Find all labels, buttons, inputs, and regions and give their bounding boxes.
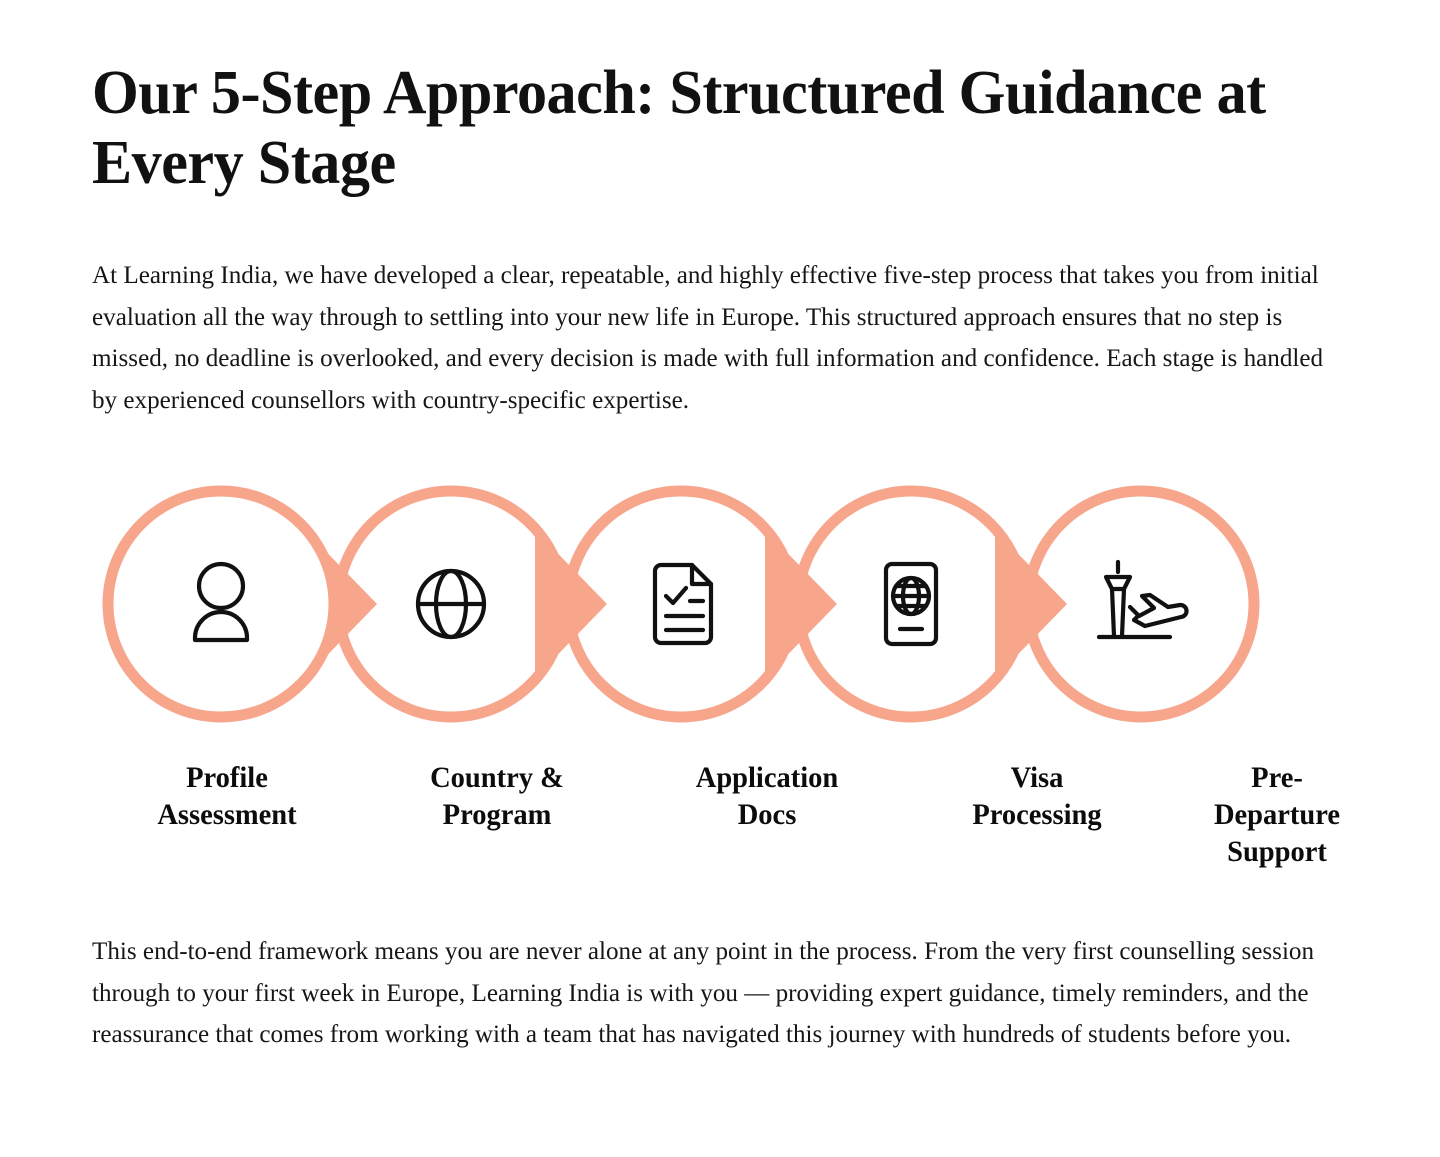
step-label-3-line-1: Application xyxy=(639,760,896,797)
step-label-4-line-1: Visa xyxy=(909,760,1166,797)
step-label-5-line-1: Pre- xyxy=(1177,760,1377,797)
step-label-5: Pre- Departure Support xyxy=(1177,760,1377,870)
intro-paragraph: At Learning India, we have developed a c… xyxy=(92,198,1329,420)
step-label-3-line-2: Docs xyxy=(639,797,896,834)
step-label-5-line-3: Support xyxy=(1177,834,1377,871)
step-label-4-line-2: Processing xyxy=(909,797,1166,834)
step-label-2-line-2: Program xyxy=(369,797,626,834)
passport-icon xyxy=(886,564,936,644)
step-label-2: Country & Program xyxy=(369,760,626,870)
step-label-2-line-1: Country & xyxy=(369,760,626,797)
page-title: Our 5-Step Approach: Structured Guidance… xyxy=(92,0,1310,198)
outro-paragraph: This end-to-end framework means you are … xyxy=(92,930,1331,1055)
step-label-3: Application Docs xyxy=(639,760,896,870)
step-label-1-line-1: Profile xyxy=(99,760,356,797)
step-label-1-line-2: Assessment xyxy=(99,797,356,834)
step-labels-row: Profile Assessment Country & Program App… xyxy=(92,760,1382,870)
process-circles-svg xyxy=(92,474,1382,734)
step-label-1: Profile Assessment xyxy=(99,760,356,870)
step-circle-1[interactable] xyxy=(108,491,334,717)
page-root: Our 5-Step Approach: Structured Guidance… xyxy=(0,0,1440,1157)
step-label-5-line-2: Departure xyxy=(1177,797,1377,834)
outro-block: This end-to-end framework means you are … xyxy=(92,930,1350,1055)
document-check-icon xyxy=(655,565,711,643)
airport-departure-icon xyxy=(1099,562,1187,637)
process-diagram: Profile Assessment Country & Program App… xyxy=(92,474,1382,884)
globe-icon xyxy=(418,571,484,637)
step-label-4: Visa Processing xyxy=(909,760,1166,870)
